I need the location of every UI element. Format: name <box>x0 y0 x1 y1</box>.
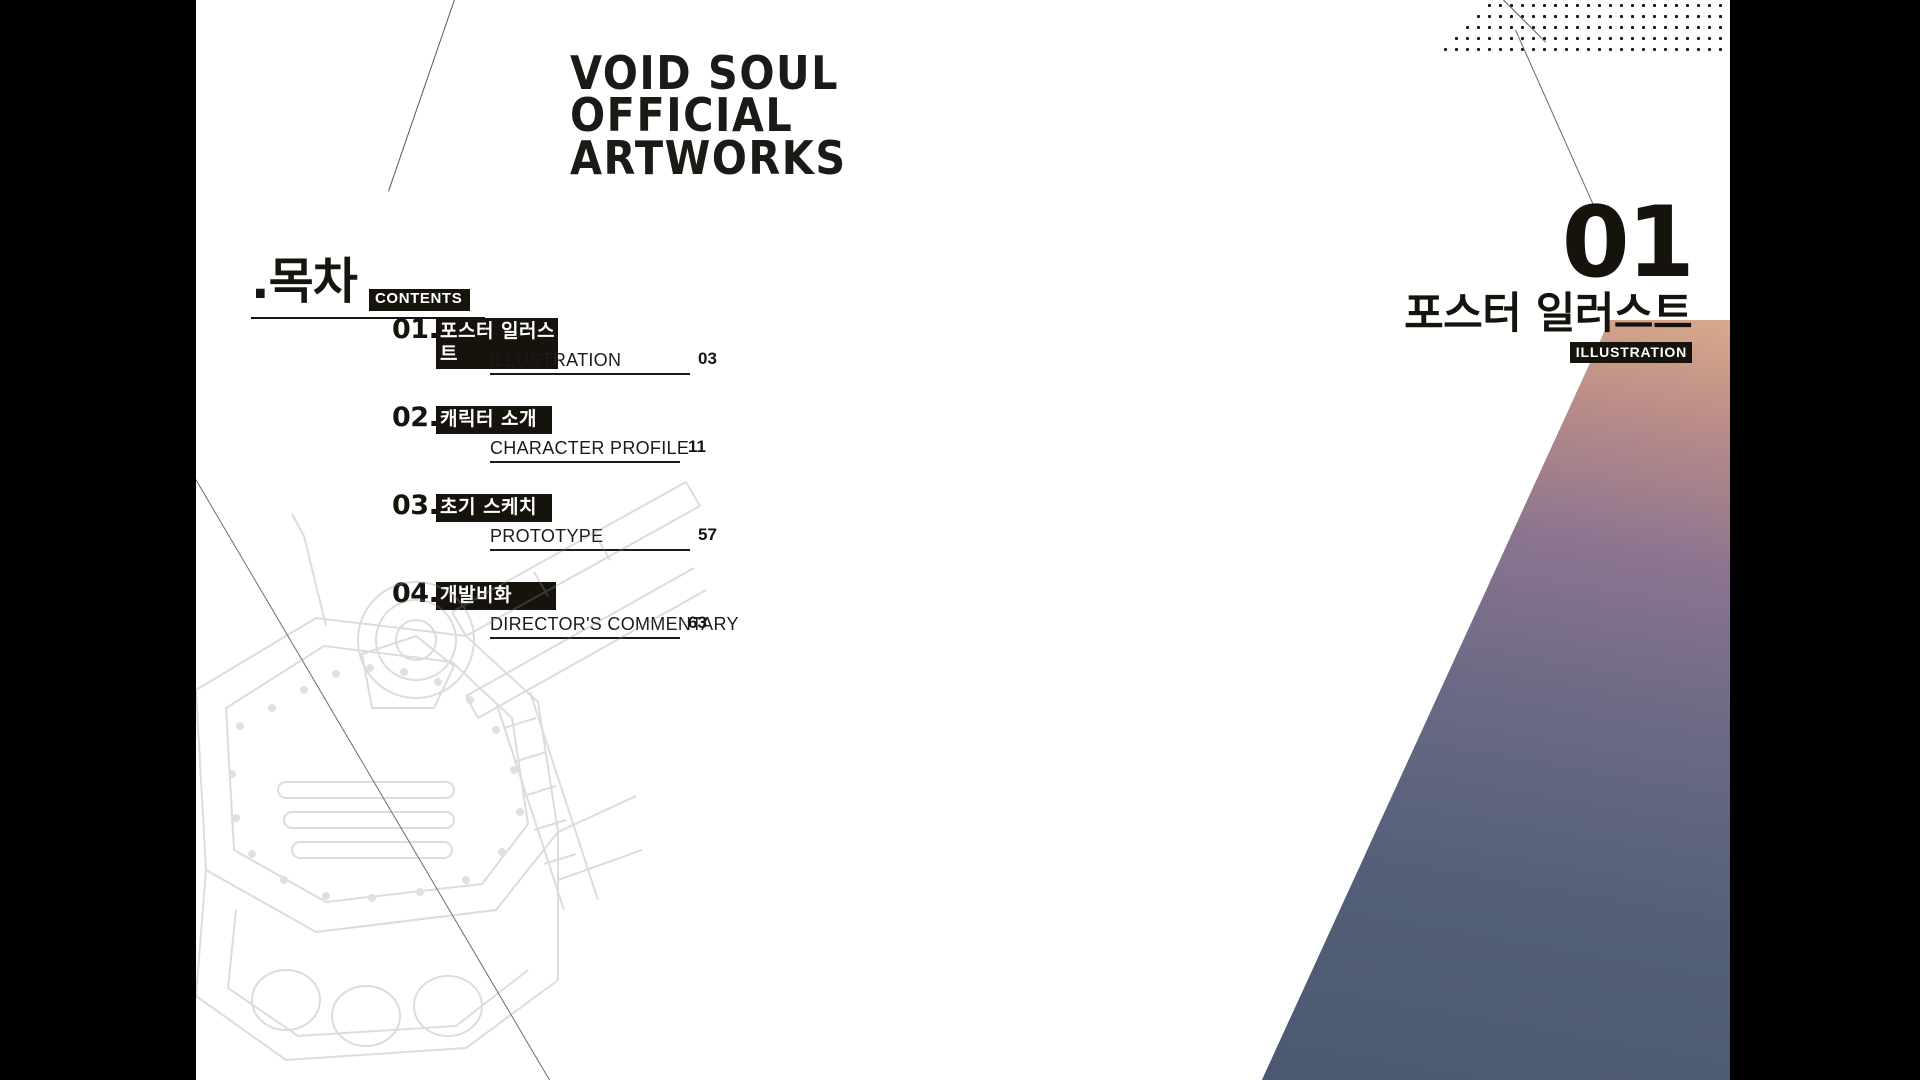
toc-entry[interactable]: 01.포스터 일러스트ILLUSTRATION03 <box>392 318 932 406</box>
page-gutter <box>962 0 963 1080</box>
toc-entry-korean: 캐릭터 소개 <box>436 406 552 434</box>
toc-entry-english: ILLUSTRATION <box>490 350 621 372</box>
left-page: VOID SOUL OFFICIAL ARTWORKS .목차 CONTENTS… <box>196 0 962 1080</box>
toc-entry-number: 01. <box>392 316 438 343</box>
toc-entry-number: 02. <box>392 404 438 431</box>
halftone-dot-pattern <box>1440 0 1730 52</box>
chapter-title-english: ILLUSTRATION <box>1570 342 1692 363</box>
pixel-art-sky <box>1262 320 1730 1080</box>
toc-entry-heading: 02.캐릭터 소개 <box>392 406 932 440</box>
chapter-title-korean: 포스터 일러스트 <box>1404 293 1692 336</box>
letterbox-left <box>0 0 196 1080</box>
right-page: 01 포스터 일러스트 ILLUSTRATION <box>962 0 1730 1080</box>
chapter-number: 01 <box>1562 200 1692 286</box>
letterbox-right <box>1730 0 1920 1080</box>
diagonal-hairline-top <box>388 0 459 191</box>
book-title: VOID SOUL OFFICIAL ARTWORKS <box>570 52 962 179</box>
artbook-spread: VOID SOUL OFFICIAL ARTWORKS .목차 CONTENTS… <box>196 0 1730 1080</box>
contents-heading-tag: CONTENTS <box>369 289 470 311</box>
mecha-lineart-illustration <box>196 440 726 1080</box>
contents-heading-korean: .목차 <box>251 257 357 306</box>
screenshot-stage: VOID SOUL OFFICIAL ARTWORKS .목차 CONTENTS… <box>0 0 1920 1080</box>
contents-heading: .목차 CONTENTS <box>251 265 671 321</box>
book-title-line-3: ARTWORKS <box>570 137 962 179</box>
pixel-art-illustration <box>1262 320 1730 1080</box>
toc-entry-page-number: 03 <box>698 349 717 369</box>
toc-entry-subline: ILLUSTRATION03 <box>490 350 910 378</box>
toc-entry-leader-rule <box>490 373 690 375</box>
toc-entry-heading: 01.포스터 일러스트 <box>392 318 932 352</box>
